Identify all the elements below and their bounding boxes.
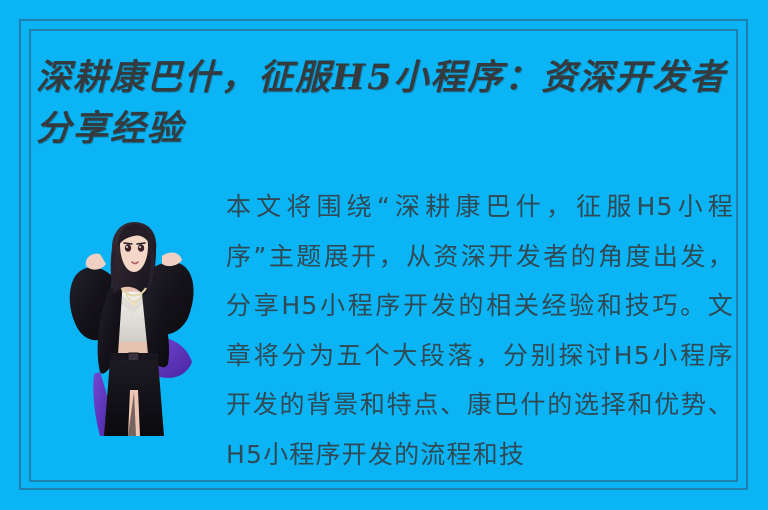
article-cover-card: 深耕康巴什，征服H5小程序：资深开发者分享经验 [0, 0, 768, 510]
anime-woman-icon [56, 222, 208, 436]
illustration-anime-woman [56, 222, 208, 436]
article-summary-text: 本文将围绕“深耕康巴什，征服H5小程序”主题展开，从资深开发者的角度出发，分享H… [226, 182, 734, 478]
page-title: 深耕康巴什，征服H5小程序：资深开发者分享经验 [36, 52, 736, 154]
